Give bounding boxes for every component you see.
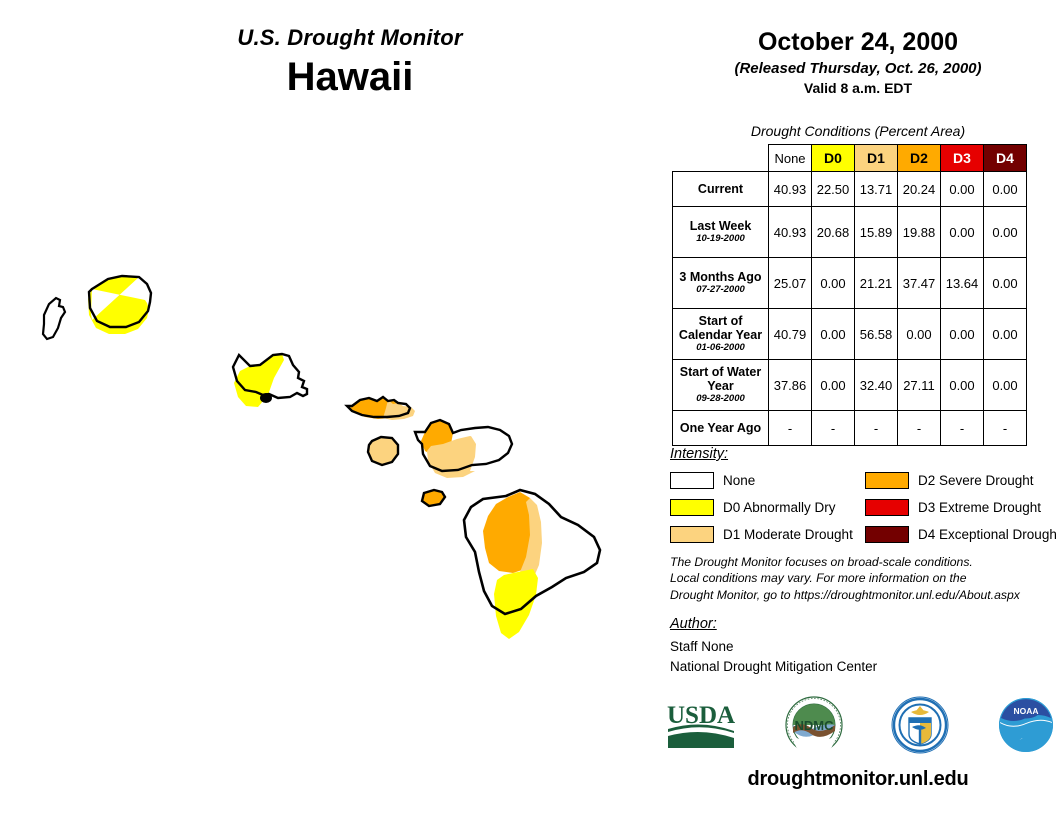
- table-cell: 32.40: [855, 360, 898, 411]
- valid-date: October 24, 2000: [660, 28, 1056, 57]
- row-label-text: One Year Ago: [680, 421, 761, 435]
- noaa-logo: NOAA: [997, 696, 1055, 759]
- logo-row: USDA NDMC: [665, 696, 1055, 758]
- table-cell: 0.00: [812, 309, 855, 360]
- table-cell: 0.00: [984, 172, 1027, 207]
- table-cell: 0.00: [984, 207, 1027, 258]
- table-row: One Year Ago------: [673, 411, 1027, 446]
- island-hawaii-big-island: [464, 490, 600, 639]
- legend-item: D3 Extreme Drought: [865, 495, 1056, 519]
- legend-item: D0 Abnormally Dry: [670, 495, 853, 519]
- disclaimer-line-3: Drought Monitor, go to https://droughtmo…: [670, 587, 1050, 603]
- table-cell: 37.47: [898, 258, 941, 309]
- table-cell: 0.00: [812, 258, 855, 309]
- table-cell: 0.00: [941, 207, 984, 258]
- legend-label: D0 Abnormally Dry: [723, 500, 836, 515]
- table-row-label: Last Week10-19-2000: [673, 207, 769, 258]
- table-cell: 20.68: [812, 207, 855, 258]
- table-row: Last Week10-19-200040.9320.6815.8919.880…: [673, 207, 1027, 258]
- legend-color-swatch: [670, 526, 714, 543]
- table-cell: 13.71: [855, 172, 898, 207]
- table-cell: -: [984, 411, 1027, 446]
- table-cell: 22.50: [812, 172, 855, 207]
- legend-label: D4 Exceptional Drought: [918, 527, 1056, 542]
- state-name-title: Hawaii: [150, 54, 550, 100]
- island-lanai: [368, 437, 398, 465]
- row-label-text: Start of Calendar Year: [679, 314, 762, 342]
- row-label-date: 10-19-2000: [674, 234, 767, 245]
- table-cell: 0.00: [941, 360, 984, 411]
- disclaimer-line-1: The Drought Monitor focuses on broad-sca…: [670, 554, 1050, 570]
- island-kahoolawe: [422, 490, 445, 506]
- table-row: Start of Calendar Year01-06-200040.790.0…: [673, 309, 1027, 360]
- table-cell: 0.00: [984, 360, 1027, 411]
- table-cell: -: [769, 411, 812, 446]
- table-row-label: Current: [673, 172, 769, 207]
- table-header-d4: D4: [984, 145, 1027, 172]
- table-cell: 0.00: [812, 360, 855, 411]
- svg-text:NOAA: NOAA: [1013, 706, 1038, 716]
- table-cell: 0.00: [941, 172, 984, 207]
- row-label-text: Start of Water Year: [680, 365, 762, 393]
- table-cell: -: [855, 411, 898, 446]
- table-row-label: Start of Calendar Year01-06-2000: [673, 309, 769, 360]
- table-header-d2: D2: [898, 145, 941, 172]
- valid-time: Valid 8 a.m. EDT: [660, 80, 1056, 96]
- table-cell: -: [812, 411, 855, 446]
- row-label-text: Current: [698, 182, 743, 196]
- usda-logo: USDA: [665, 699, 737, 756]
- table-row-label: Start of Water Year09-28-2000: [673, 360, 769, 411]
- row-label-text: 3 Months Ago: [679, 270, 761, 284]
- drought-conditions-table: NoneD0D1D2D3D4 Current40.9322.5013.7120.…: [672, 144, 1027, 446]
- release-date: (Released Thursday, Oct. 26, 2000): [660, 60, 1056, 77]
- table-header-d1: D1: [855, 145, 898, 172]
- island-kauai: [88, 276, 151, 334]
- legend-column-right: D2 Severe DroughtD3 Extreme DroughtD4 Ex…: [865, 468, 1056, 549]
- honolulu-city-marker: [260, 393, 272, 403]
- table-cell: 40.79: [769, 309, 812, 360]
- ndmc-logo: NDMC: [785, 696, 843, 759]
- disclaimer-text: The Drought Monitor focuses on broad-sca…: [670, 554, 1050, 603]
- legend-color-swatch: [865, 499, 909, 516]
- legend-label: D1 Moderate Drought: [723, 527, 853, 542]
- author-name: Staff None: [670, 637, 877, 657]
- table-cell: 20.24: [898, 172, 941, 207]
- drought-monitor-title: U.S. Drought Monitor: [150, 26, 550, 50]
- table-row-label: One Year Ago: [673, 411, 769, 446]
- island-oahu: [233, 354, 307, 407]
- legend-item: D1 Moderate Drought: [670, 522, 853, 546]
- table-cell: -: [941, 411, 984, 446]
- intensity-legend-title: Intensity:: [670, 446, 728, 462]
- table-row: Current40.9322.5013.7120.240.000.00: [673, 172, 1027, 207]
- table-header-row: NoneD0D1D2D3D4: [673, 145, 1027, 172]
- table-cell: 40.93: [769, 207, 812, 258]
- legend-label: None: [723, 473, 755, 488]
- table-header-none: None: [769, 145, 812, 172]
- table-cell: 0.00: [941, 309, 984, 360]
- table-cell: -: [898, 411, 941, 446]
- row-label-text: Last Week: [690, 219, 752, 233]
- map-title-block: U.S. Drought Monitor Hawaii: [150, 26, 550, 100]
- legend-color-swatch: [670, 499, 714, 516]
- row-label-date: 09-28-2000: [674, 394, 767, 405]
- hawaii-drought-map: [0, 250, 660, 680]
- legend-color-swatch: [865, 472, 909, 489]
- legend-color-swatch: [670, 472, 714, 489]
- row-label-date: 01-06-2000: [674, 343, 767, 354]
- table-row-label: 3 Months Ago07-27-2000: [673, 258, 769, 309]
- table-caption: Drought Conditions (Percent Area): [660, 123, 1056, 139]
- table-cell: 19.88: [898, 207, 941, 258]
- legend-item: None: [670, 468, 853, 492]
- table-row: Start of Water Year09-28-200037.860.0032…: [673, 360, 1027, 411]
- legend-item: D4 Exceptional Drought: [865, 522, 1056, 546]
- legend-column-left: NoneD0 Abnormally DryD1 Moderate Drought: [670, 468, 853, 549]
- disclaimer-line-2: Local conditions may vary. For more info…: [670, 570, 1050, 586]
- table-cell: 13.64: [941, 258, 984, 309]
- legend-label: D2 Severe Drought: [918, 473, 1034, 488]
- table-cell: 0.00: [984, 309, 1027, 360]
- table-header-d0: D0: [812, 145, 855, 172]
- svg-text:NDMC: NDMC: [795, 718, 835, 733]
- table-body: Current40.9322.5013.7120.240.000.00Last …: [673, 172, 1027, 446]
- author-heading: Author:: [670, 616, 717, 632]
- table-cell: 0.00: [984, 258, 1027, 309]
- table-cell: 21.21: [855, 258, 898, 309]
- island-maui: [415, 420, 512, 478]
- usdc-seal-logo: [891, 696, 949, 759]
- table-cell: 37.86: [769, 360, 812, 411]
- author-block: Staff None National Drought Mitigation C…: [670, 637, 877, 676]
- table-header-d3: D3: [941, 145, 984, 172]
- table-cell: 56.58: [855, 309, 898, 360]
- author-organization: National Drought Mitigation Center: [670, 657, 877, 677]
- table-row: 3 Months Ago07-27-200025.070.0021.2137.4…: [673, 258, 1027, 309]
- legend-item: D2 Severe Drought: [865, 468, 1056, 492]
- legend-label: D3 Extreme Drought: [918, 500, 1041, 515]
- table-header-blank: [673, 145, 769, 172]
- island-niihau: [43, 298, 65, 339]
- date-header-block: October 24, 2000 (Released Thursday, Oct…: [660, 28, 1056, 96]
- site-url: droughtmonitor.unl.edu: [660, 768, 1056, 791]
- island-molokai: [347, 397, 415, 420]
- table-cell: 40.93: [769, 172, 812, 207]
- table-cell: 15.89: [855, 207, 898, 258]
- table-cell: 0.00: [898, 309, 941, 360]
- table-cell: 27.11: [898, 360, 941, 411]
- legend-color-swatch: [865, 526, 909, 543]
- table-cell: 25.07: [769, 258, 812, 309]
- row-label-date: 07-27-2000: [674, 285, 767, 296]
